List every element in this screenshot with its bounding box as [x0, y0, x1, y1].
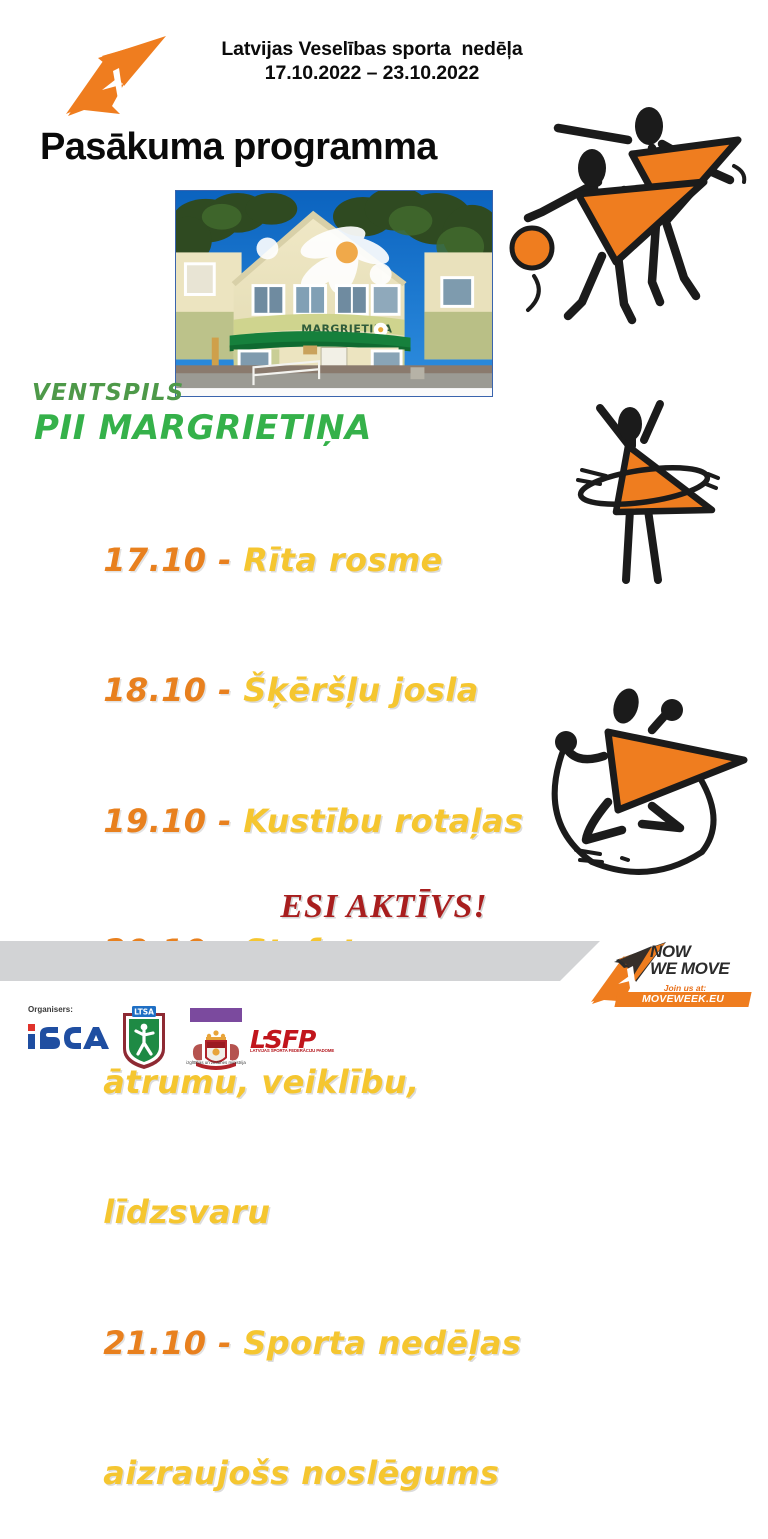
event-name: Kustību rotaļas: [243, 802, 523, 840]
now-we-move-wordmark: NOW WE MOVE: [650, 944, 729, 977]
moveweek-url: MOVEWEEK.EU: [616, 992, 750, 1007]
event-date: 17.10: [103, 541, 206, 579]
isca-logo-icon: [27, 1017, 111, 1051]
ball-bounce-figures-icon: [506, 96, 756, 326]
event-date: 18.10: [103, 671, 206, 709]
svg-text:LTSA: LTSA: [134, 1008, 154, 1017]
event-separator: -: [206, 541, 243, 579]
izm-logo-icon: [178, 1008, 254, 1080]
jump-rope-figure-icon: [530, 682, 768, 890]
ltsa-logo-icon: LTSA: [120, 1005, 168, 1071]
nwm-line2: WE MOVE: [650, 961, 729, 978]
event-name: aizraujošs noslēgums: [103, 1454, 499, 1492]
place-city: VENTSPILS: [32, 380, 184, 406]
poster-root: Latvijas Veselības sporta nedēļa 17.10.2…: [0, 0, 768, 1086]
event-name: līdzsvaru: [103, 1193, 270, 1231]
program-title: Pasākuma programma: [40, 126, 530, 169]
hula-hoop-figure-icon: [566, 388, 756, 584]
event-name: Rīta rosme: [243, 541, 443, 579]
event-date-range: 17.10.2022 – 23.10.2022: [186, 62, 558, 85]
moveweek-url-banner[interactable]: MOVEWEEK.EU: [614, 992, 751, 1007]
page-title-event: Latvijas Veselības sporta nedēļa: [186, 38, 558, 62]
organisers-label: Organisers:: [28, 1005, 73, 1014]
slogan-text: ESI AKTĪVS!: [0, 888, 768, 926]
lsfp-subtitle: LATVIJAS SPORTA FEDERĀCIJU PADOME: [250, 1048, 342, 1053]
event-name: Šķēršļu josla: [243, 671, 479, 709]
event-name: Sporta nedēļas: [243, 1324, 521, 1362]
event-separator: -: [206, 802, 243, 840]
list-item: 19.10 - Kustību rotaļas: [34, 756, 504, 887]
event-date: 19.10: [103, 802, 206, 840]
list-item: 17.10 - Rīta rosme: [34, 495, 504, 626]
list-item: 18.10 - Šķēršļu josla: [34, 626, 504, 757]
now-we-move-arrow-icon: [62, 28, 172, 123]
list-item-continuation: aizraujošs noslēgums: [34, 1409, 504, 1539]
place-name: PII MARGRIETIŅA: [34, 408, 372, 448]
list-item-continuation: līdzsvaru: [34, 1148, 504, 1279]
event-separator: -: [206, 1324, 243, 1362]
izm-caption: izglītības un zinātnes ministrija: [178, 1060, 254, 1066]
event-separator: -: [206, 671, 243, 709]
list-item: 21.10 - Sporta nedēļas: [34, 1278, 504, 1409]
building-photo: MARGRIETINA: [175, 190, 493, 397]
event-date: 21.10: [103, 1324, 206, 1362]
